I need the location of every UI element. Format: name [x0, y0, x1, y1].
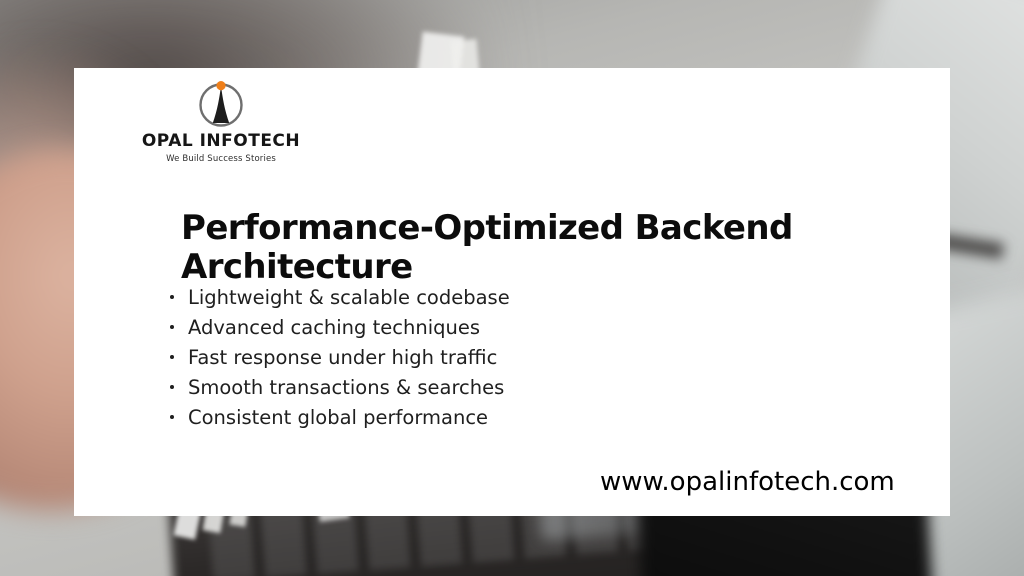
- list-item-label: Advanced caching techniques: [188, 316, 480, 339]
- list-item-label: Fast response under high traffic: [188, 346, 497, 369]
- brand-wordmark: OPAL INFOTECH: [126, 133, 316, 151]
- bullet-dot-icon: [170, 415, 174, 419]
- brand-tagline: We Build Success Stories: [126, 154, 316, 164]
- slide-heading: Performance-Optimized Backend Architectu…: [181, 209, 881, 288]
- list-item: Lightweight & scalable codebase: [166, 283, 636, 313]
- bullet-dot-icon: [170, 355, 174, 359]
- feature-bullet-list: Lightweight & scalable codebase Advanced…: [166, 283, 636, 433]
- list-item-label: Lightweight & scalable codebase: [188, 286, 510, 309]
- website-url[interactable]: www.opalinfotech.com: [600, 464, 918, 501]
- list-item: Fast response under high traffic: [166, 343, 636, 373]
- opal-circle-cone-icon: [193, 80, 249, 130]
- bullet-dot-icon: [170, 325, 174, 329]
- presentation-slide: OPAL INFOTECH We Build Success Stories P…: [0, 0, 1024, 576]
- content-card: OPAL INFOTECH We Build Success Stories P…: [74, 68, 950, 516]
- bullet-dot-icon: [170, 295, 174, 299]
- list-item: Advanced caching techniques: [166, 313, 636, 343]
- list-item: Smooth transactions & searches: [166, 373, 636, 403]
- list-item-label: Smooth transactions & searches: [188, 376, 504, 399]
- list-item-label: Consistent global performance: [188, 406, 488, 429]
- bullet-dot-icon: [170, 385, 174, 389]
- list-item: Consistent global performance: [166, 403, 636, 433]
- brand-logo: OPAL INFOTECH We Build Success Stories: [126, 80, 316, 164]
